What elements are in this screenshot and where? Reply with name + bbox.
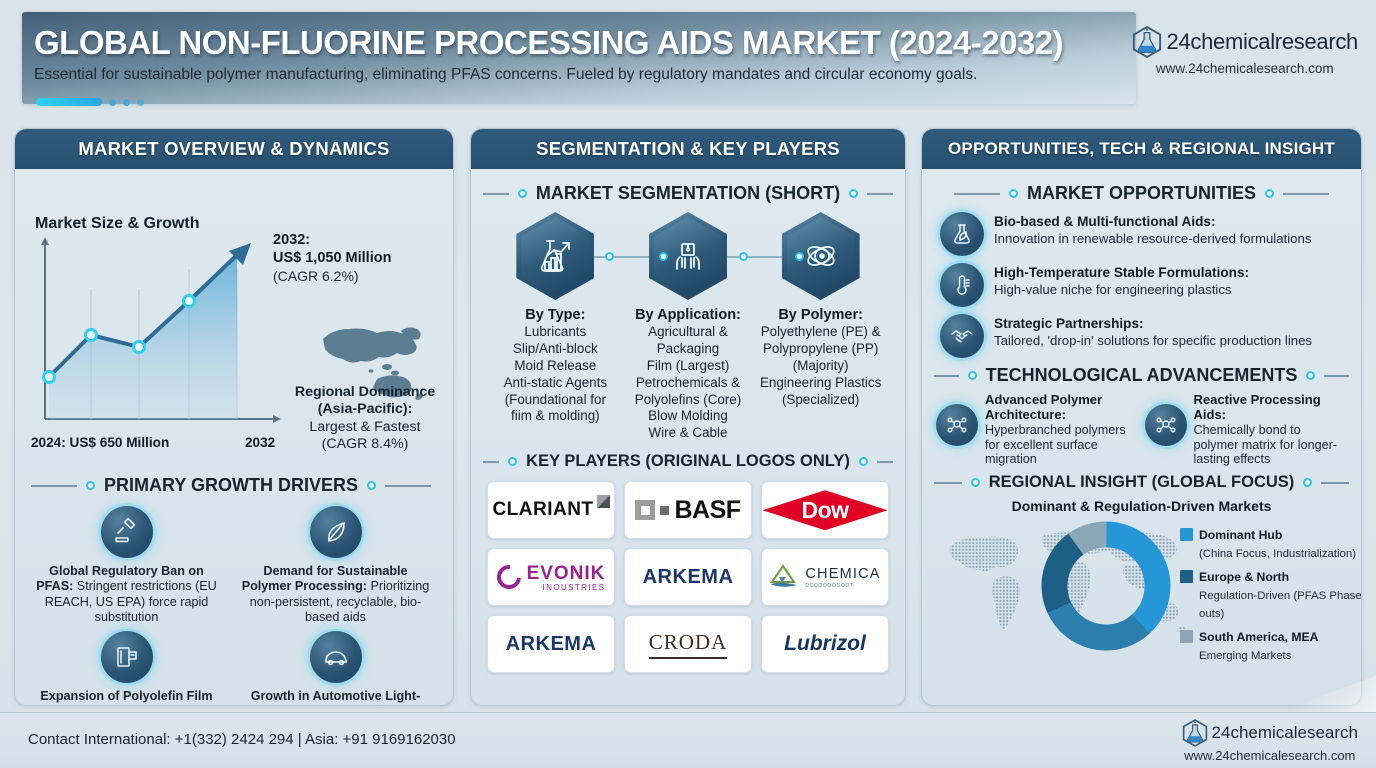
market-opportunities-heading-text: MARKET OPPORTUNITIES <box>1027 183 1256 204</box>
divider-right <box>1324 375 1349 377</box>
panel-title-opportunities: OPPORTUNITIES, TECH & REGIONAL INSIGHT <box>922 129 1361 169</box>
regional-insight-heading: REGIONAL INSIGHT (GLOBAL FOCUS) <box>934 473 1349 492</box>
brand-logo-header: 24chemicalresearch www.24chemicalesearch… <box>1132 26 1358 76</box>
basf-square-icon <box>635 500 655 520</box>
progress-dot-3 <box>137 99 144 106</box>
molecule-icon <box>936 404 978 446</box>
film-roll-icon <box>101 631 153 683</box>
footer-contact-text: Contact International: +1(332) 2424 294 … <box>28 731 456 748</box>
progress-dot-2 <box>123 99 130 106</box>
logo-sub-evonik: INOUSTRIES <box>527 583 606 592</box>
infographic-page: GLOBAL NON-FLUORINE PROCESSING AIDS MARK… <box>0 0 1376 768</box>
heading-dot-right <box>849 189 858 198</box>
tech-desc: Chemically bond to polymer matrix for lo… <box>1194 423 1348 468</box>
logo-card-clariant: CLARIANT <box>487 481 615 539</box>
tech-desc: Hyperbranched polymers for excellent sur… <box>985 423 1139 468</box>
clariant-square-icon <box>597 495 610 508</box>
footer-brand-name: 24chemicalesearch <box>1212 723 1358 743</box>
divider-left <box>31 485 77 487</box>
legend-item: Dominant Hub (China Focus, Industrializa… <box>1180 526 1362 562</box>
heading-dot-left <box>971 478 980 487</box>
logo-sub-chemica: DOOOOOOOOOT <box>805 583 880 589</box>
logo-text-evonik: EVONIK <box>527 563 606 584</box>
legend-desc: Regulation-Driven (PFAS Phase-outs) <box>1199 590 1362 620</box>
logo-text-croda: CRODA <box>649 630 728 659</box>
chart-endpoint-annotation: 2032: US$ 1,050 Million (CAGR 6.2%) <box>273 231 443 284</box>
logo-card-arkema-2: ARKEMA <box>487 615 615 673</box>
progress-indicator <box>36 98 144 106</box>
heading-dot-right <box>367 481 376 490</box>
chart-end-value: US$ 1,050 Million <box>273 250 391 266</box>
thermometer-icon <box>940 263 984 307</box>
logo-text-arkema: ARKEMA <box>643 566 734 589</box>
segment-items: Polyethylene (PE) & Polypropylene (PP) (… <box>755 324 887 408</box>
tech-advancements-row: Advanced Polymer Architecture: Hyperbran… <box>934 392 1349 467</box>
opportunity-desc: Innovation in renewable resource-derived… <box>994 231 1311 247</box>
driver-item: Global Regulatory Ban on PFAS: Stringent… <box>29 506 224 625</box>
logo-text-arkema: ARKEMA <box>506 633 597 656</box>
chart-axis-end-label: 2032 <box>245 435 275 450</box>
leaf-icon <box>310 506 362 558</box>
legend-swatch-south-america-mea <box>1180 630 1193 643</box>
divider-right <box>385 485 431 487</box>
tech-title: Advanced Polymer Architecture: <box>985 392 1139 423</box>
chart-axis-start-label: 2024: US$ 650 Million <box>31 435 169 450</box>
logo-text-clariant: CLARIANT <box>492 499 593 521</box>
legend-desc: (China Focus, Industrialization) <box>1199 548 1356 560</box>
car-icon <box>310 631 362 683</box>
legend-label: Dominant Hub <box>1199 528 1282 542</box>
basf-dot-icon <box>660 506 669 515</box>
progress-bar <box>36 98 102 106</box>
panel-opportunities: OPPORTUNITIES, TECH & REGIONAL INSIGHT M… <box>921 128 1362 706</box>
flask-hexagon-icon <box>1132 26 1162 58</box>
atom-icon <box>782 212 860 300</box>
legend-item: Europe & North Regulation-Driven (PFAS P… <box>1180 568 1362 622</box>
driver-title: Growth in Automotive Light-weighting: <box>239 689 421 706</box>
segment-title: By Type: <box>489 307 621 323</box>
tech-item: Reactive Processing Aids: Chemically bon… <box>1145 392 1348 467</box>
segment-title: By Application: <box>622 307 754 323</box>
region-dominance-line1: Largest & Fastest <box>309 419 420 435</box>
tech-title: Reactive Processing Aids: <box>1194 392 1348 423</box>
regional-dominance-note: Regional Dominance (Asia-Pacific): Large… <box>277 384 453 453</box>
logo-card-arkema-1: ARKEMA <box>624 548 752 606</box>
segment-by-type: By Type: Lubricants Slip/Anti-block Moid… <box>489 212 621 425</box>
divider-left <box>934 375 959 377</box>
logo-card-chemica: CHEMICA DOOOOOOOOOT <box>761 548 889 606</box>
segmentation-row: By Type: Lubricants Slip/Anti-block Moid… <box>483 212 893 442</box>
heading-dot-right <box>1265 189 1274 198</box>
header: GLOBAL NON-FLUORINE PROCESSING AIDS MARK… <box>0 0 1376 112</box>
market-opportunities-heading: MARKET OPPORTUNITIES <box>934 183 1349 204</box>
divider-left <box>483 461 499 463</box>
logo-text-chemica: CHEMICA <box>805 566 880 582</box>
segment-items: Lubricants Slip/Anti-block Moid Release … <box>489 324 621 425</box>
regional-donut-chart <box>1038 518 1174 654</box>
flask-leaf-icon <box>940 212 984 256</box>
divider-left <box>954 193 1000 195</box>
market-growth-chart <box>23 229 291 449</box>
heading-dot-left <box>518 189 527 198</box>
footer: Contact International: +1(332) 2424 294 … <box>0 712 1376 768</box>
panel-market-overview: MARKET OVERVIEW & DYNAMICS Market Size &… <box>14 128 454 706</box>
legend-desc: Emerging Markets <box>1199 650 1291 662</box>
region-dominance-line2: (CAGR 8.4%) <box>322 436 409 452</box>
connector-node-1 <box>605 252 614 261</box>
opportunity-title: High-Temperature Stable Formulations: <box>994 265 1249 281</box>
tech-item: Advanced Polymer Architecture: Hyperbran… <box>936 392 1139 467</box>
opportunity-desc: High-value niche for engineering plastic… <box>994 282 1249 298</box>
donut-slice-south-america-mea <box>1054 535 1157 638</box>
footer-brand-url: www.24chemicalesearch.com <box>1182 748 1358 763</box>
opportunity-item: High-Temperature Stable Formulations: Hi… <box>940 263 1345 307</box>
legend-label: South America, MEA <box>1199 630 1318 644</box>
molecule-icon <box>1145 404 1187 446</box>
heading-dot-left <box>968 371 977 380</box>
legend-label: Europe & North <box>1199 570 1289 584</box>
segment-items: Agricultural & Packaging Film (Largest) … <box>622 324 754 442</box>
panel-title-market-overview: MARKET OVERVIEW & DYNAMICS <box>15 129 453 169</box>
segment-by-polymer: By Polymer: Polyethylene (PE) & Polyprop… <box>755 212 887 408</box>
dow-diamond-icon: Dow <box>763 490 888 530</box>
page-title: GLOBAL NON-FLUORINE PROCESSING AIDS MARK… <box>34 24 1124 62</box>
driver-item: Growth in Automotive Light-weighting: Hi… <box>238 631 433 706</box>
chart-end-cagr: (CAGR 6.2%) <box>273 268 443 284</box>
connector-node-4 <box>795 252 804 261</box>
divider-left <box>934 482 962 484</box>
legend-item: South America, MEA Emerging Markets <box>1180 628 1362 664</box>
connector-node-3 <box>739 252 748 261</box>
brand-url: www.24chemicalesearch.com <box>1156 61 1334 76</box>
opportunity-item: Bio-based & Multi-functional Aids: Innov… <box>940 212 1345 256</box>
tech-advancements-heading-text: TECHNOLOGICAL ADVANCEMENTS <box>986 365 1298 386</box>
progress-dot-1 <box>109 99 116 106</box>
logo-card-evonik: EVONIK INOUSTRIES <box>487 548 615 606</box>
legend-swatch-dominant-hub <box>1180 528 1193 541</box>
driver-title: Expansion of Polyolefin Film Production: <box>34 689 212 706</box>
logo-card-dow: Dow <box>761 481 889 539</box>
divider-right <box>877 461 893 463</box>
driver-item: Demand for Sustainable Polymer Processin… <box>238 506 433 625</box>
panel-title-segmentation: SEGMENTATION & KEY PLAYERS <box>471 129 905 169</box>
tech-advancements-heading: TECHNOLOGICAL ADVANCEMENTS <box>934 365 1349 386</box>
logo-card-croda: CRODA <box>624 615 752 673</box>
divider-right <box>1283 193 1329 195</box>
regional-insight-subtitle: Dominant & Regulation-Driven Markets <box>934 498 1349 514</box>
divider-left <box>483 193 509 195</box>
brand-logo-footer: 24chemicalesearch www.24chemicalesearch.… <box>1182 719 1358 763</box>
brand-name: 24chemicalresearch <box>1167 29 1358 55</box>
heading-dot-right <box>1303 478 1312 487</box>
logo-text-basf: BASF <box>674 496 740 525</box>
logo-text-lubrizol: Lubrizol <box>784 632 866 655</box>
segmentation-heading: MARKET SEGMENTATION (SHORT) <box>483 183 893 204</box>
regional-visual: Dominant Hub (China Focus, Industrializa… <box>934 516 1349 656</box>
region-dominance-title: Regional Dominance (Asia-Pacific): <box>295 384 435 417</box>
segment-by-application: By Application: Agricultural & Packaging… <box>622 212 754 442</box>
logo-card-lubrizol: Lubrizol <box>761 615 889 673</box>
heading-dot-left <box>508 457 517 466</box>
gavel-icon <box>101 506 153 558</box>
logo-card-basf: BASF <box>624 481 752 539</box>
opportunity-item: Strategic Partnerships: Tailored, 'drop-… <box>940 314 1345 358</box>
segmentation-heading-text: MARKET SEGMENTATION (SHORT) <box>536 183 840 204</box>
logo-text-dow: Dow <box>801 497 848 524</box>
handshake-icon <box>940 314 984 358</box>
opportunities-list: Bio-based & Multi-functional Aids: Innov… <box>934 210 1349 358</box>
chart-end-year: 2032: <box>273 232 310 248</box>
heading-dot-left <box>1009 189 1018 198</box>
divider-right <box>1321 482 1349 484</box>
flask-hexagon-icon <box>1182 719 1208 747</box>
segment-title: By Polymer: <box>755 307 887 323</box>
panel-segmentation: SEGMENTATION & KEY PLAYERS MARKET SEGMEN… <box>470 128 906 706</box>
opportunity-title: Strategic Partnerships: <box>994 316 1312 332</box>
opportunity-title: Bio-based & Multi-functional Aids: <box>994 214 1311 230</box>
regional-insight-heading-text: REGIONAL INSIGHT (GLOBAL FOCUS) <box>989 473 1295 492</box>
connector-node-2 <box>659 252 668 261</box>
evonik-ring-icon <box>492 560 526 594</box>
key-players-logo-grid: CLARIANT BASF Dow EVONIK <box>483 477 893 673</box>
page-subtitle: Essential for sustainable polymer manufa… <box>34 66 1124 84</box>
growth-drivers-heading: PRIMARY GROWTH DRIVERS <box>23 475 439 496</box>
growth-drivers-heading-text: PRIMARY GROWTH DRIVERS <box>104 475 358 496</box>
key-players-heading-text: KEY PLAYERS (ORIGINAL LOGOS ONLY) <box>526 452 850 471</box>
legend-swatch-europe-north <box>1180 570 1193 583</box>
key-players-heading: KEY PLAYERS (ORIGINAL LOGOS ONLY) <box>483 452 893 471</box>
opportunity-desc: Tailored, 'drop-in' solutions for specif… <box>994 333 1312 349</box>
chemica-mark-icon <box>769 564 799 590</box>
heading-dot-right <box>859 457 868 466</box>
driver-item: Expansion of Polyolefin Film Production:… <box>29 631 224 706</box>
heading-dot-left <box>86 481 95 490</box>
chart-flask-icon <box>516 212 594 300</box>
regional-legend: Dominant Hub (China Focus, Industrializa… <box>1180 526 1362 670</box>
growth-drivers-section: PRIMARY GROWTH DRIVERS Global Regulatory… <box>23 469 439 706</box>
divider-right <box>867 193 893 195</box>
heading-dot-right <box>1306 371 1315 380</box>
